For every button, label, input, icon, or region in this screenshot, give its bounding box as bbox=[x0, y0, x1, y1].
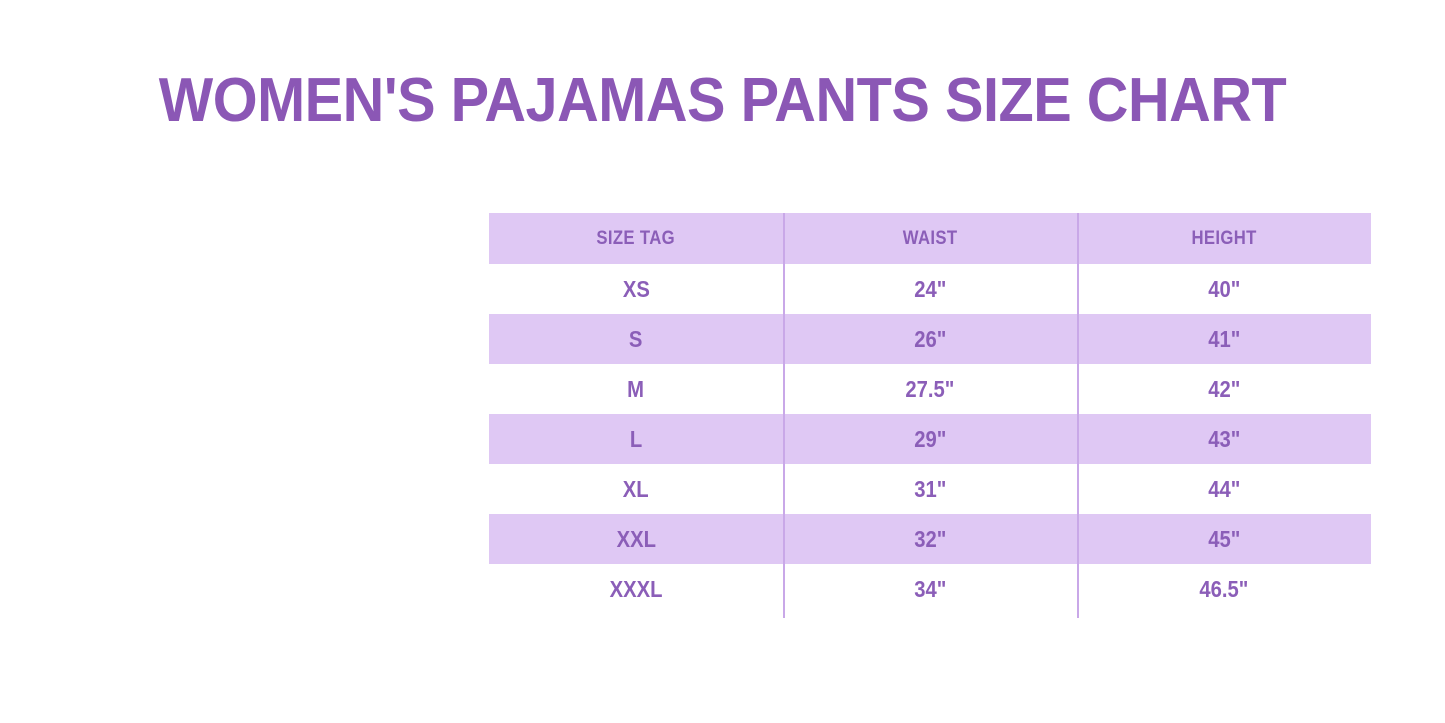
column-header-waist-label: WAIST bbox=[903, 228, 958, 250]
cell-size-tag-value: M bbox=[628, 376, 645, 403]
cell-height-value: 45" bbox=[1208, 526, 1240, 553]
size-chart-table: SIZE TAG WAIST HEIGHT XS 24" 40" S 26" 4… bbox=[489, 213, 1371, 614]
cell-size-tag-value: XXXL bbox=[610, 576, 663, 603]
cell-waist-value: 34" bbox=[914, 576, 946, 603]
cell-waist: 27.5" bbox=[783, 364, 1077, 414]
cell-height: 44" bbox=[1077, 464, 1371, 514]
table-row: L 29" 43" bbox=[489, 414, 1371, 464]
cell-height: 42" bbox=[1077, 364, 1371, 414]
cell-waist: 34" bbox=[783, 564, 1077, 614]
cell-size-tag-value: L bbox=[630, 426, 642, 453]
column-header-height-label: HEIGHT bbox=[1191, 228, 1256, 250]
cell-size-tag-value: XS bbox=[622, 276, 649, 303]
table-header: SIZE TAG WAIST HEIGHT bbox=[489, 213, 1371, 264]
cell-waist-value: 24" bbox=[914, 276, 946, 303]
cell-size-tag: XS bbox=[489, 264, 783, 314]
cell-size-tag: S bbox=[489, 314, 783, 364]
cell-size-tag: XXL bbox=[489, 514, 783, 564]
table-row: XXL 32" 45" bbox=[489, 514, 1371, 564]
cell-height-value: 44" bbox=[1208, 476, 1240, 503]
table-body: XS 24" 40" S 26" 41" M 27.5" 42" L 29" bbox=[489, 264, 1371, 614]
cell-height-value: 43" bbox=[1208, 426, 1240, 453]
cell-waist: 24" bbox=[783, 264, 1077, 314]
cell-size-tag: XL bbox=[489, 464, 783, 514]
column-divider-2 bbox=[1077, 213, 1079, 618]
table-row: M 27.5" 42" bbox=[489, 364, 1371, 414]
table-header-row: SIZE TAG WAIST HEIGHT bbox=[489, 213, 1371, 264]
cell-size-tag-value: XXL bbox=[616, 526, 655, 553]
table-row: S 26" 41" bbox=[489, 314, 1371, 364]
cell-height: 40" bbox=[1077, 264, 1371, 314]
column-header-size-tag: SIZE TAG bbox=[489, 213, 783, 264]
cell-waist-value: 27.5" bbox=[905, 376, 954, 403]
cell-size-tag: XXXL bbox=[489, 564, 783, 614]
column-header-size-tag-label: SIZE TAG bbox=[597, 228, 676, 250]
column-header-height: HEIGHT bbox=[1077, 213, 1371, 264]
cell-height: 43" bbox=[1077, 414, 1371, 464]
cell-waist-value: 31" bbox=[914, 476, 946, 503]
cell-height: 41" bbox=[1077, 314, 1371, 364]
cell-size-tag: L bbox=[489, 414, 783, 464]
table-row: XXXL 34" 46.5" bbox=[489, 564, 1371, 614]
page-title: WOMEN'S PAJAMAS PANTS SIZE CHART bbox=[51, 66, 1395, 136]
cell-waist: 32" bbox=[783, 514, 1077, 564]
cell-waist-value: 32" bbox=[914, 526, 946, 553]
cell-height-value: 40" bbox=[1208, 276, 1240, 303]
cell-height-value: 42" bbox=[1208, 376, 1240, 403]
cell-height-value: 41" bbox=[1208, 326, 1240, 353]
cell-waist: 26" bbox=[783, 314, 1077, 364]
cell-size-tag-value: S bbox=[629, 326, 643, 353]
size-chart-table-wrapper: SIZE TAG WAIST HEIGHT XS 24" 40" S 26" 4… bbox=[489, 213, 1371, 614]
cell-waist: 29" bbox=[783, 414, 1077, 464]
column-divider-1 bbox=[783, 213, 785, 618]
table-row: XS 24" 40" bbox=[489, 264, 1371, 314]
cell-height: 45" bbox=[1077, 514, 1371, 564]
cell-size-tag-value: XL bbox=[623, 476, 649, 503]
cell-height: 46.5" bbox=[1077, 564, 1371, 614]
cell-waist: 31" bbox=[783, 464, 1077, 514]
cell-waist-value: 29" bbox=[914, 426, 946, 453]
cell-size-tag: M bbox=[489, 364, 783, 414]
table-row: XL 31" 44" bbox=[489, 464, 1371, 514]
size-chart-page: WOMEN'S PAJAMAS PANTS SIZE CHART SIZE TA… bbox=[0, 0, 1445, 723]
column-header-waist: WAIST bbox=[783, 213, 1077, 264]
cell-height-value: 46.5" bbox=[1199, 576, 1248, 603]
cell-waist-value: 26" bbox=[914, 326, 946, 353]
